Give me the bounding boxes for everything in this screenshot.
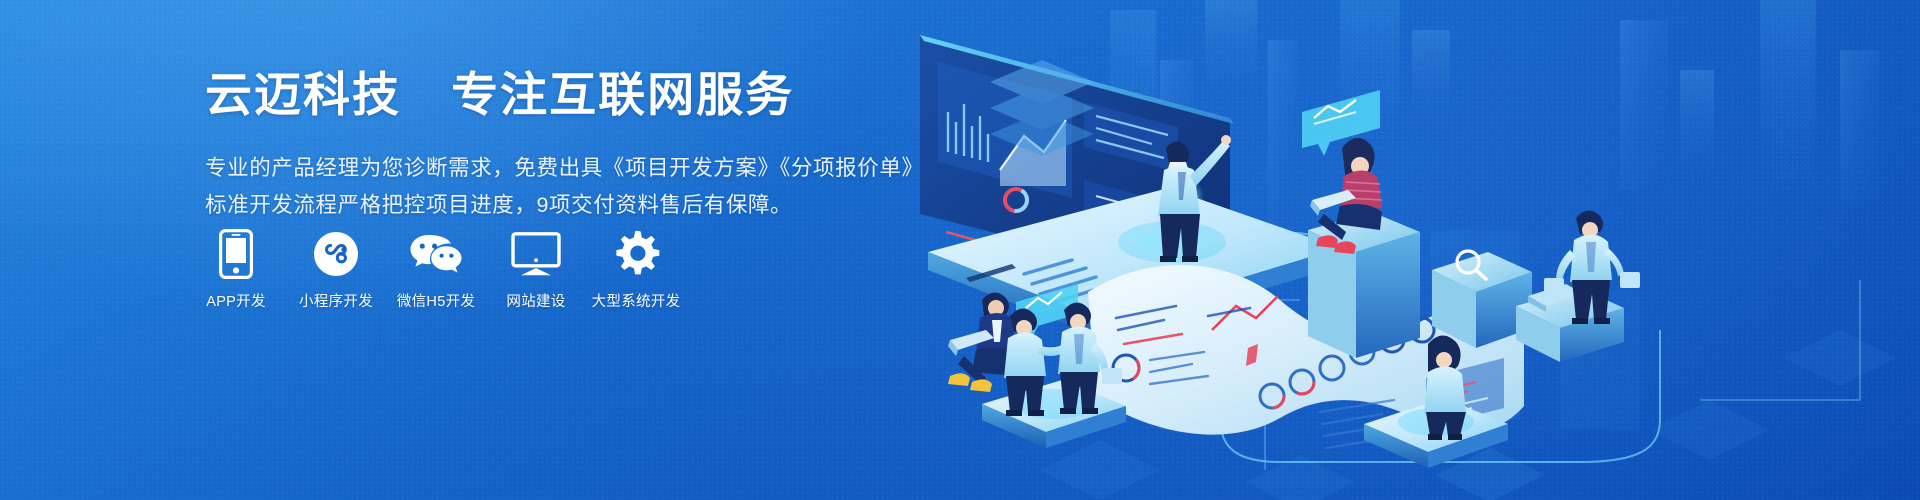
headline-brand: 云迈科技 (205, 68, 401, 121)
service-item-app[interactable]: APP开发 (198, 228, 274, 310)
service-label: 大型系统开发 (592, 295, 681, 310)
service-item-mini-program[interactable]: 小程序开发 (298, 228, 374, 310)
large-tablet-platform (928, 188, 1340, 338)
two-people-conversation (982, 284, 1126, 448)
page-title: 云迈科技 专注互联网服务 (205, 68, 905, 122)
search-magnifier-cube (1432, 251, 1532, 348)
isometric-tech-teamwork-illustration (920, 0, 1920, 500)
service-label: APP开发 (206, 295, 266, 310)
hero-banner: 云迈科技 专注互联网服务 专业的产品经理为您诊断需求，免费出具《项目开发方案》《… (0, 0, 1920, 500)
chat-bubble-chart (1302, 90, 1380, 156)
woman-on-pedestal-with-laptop (1308, 138, 1420, 358)
service-label: 小程序开发 (299, 295, 373, 310)
headline-tagline: 专注互联网服务 (451, 68, 794, 121)
hero-subtitle: 专业的产品经理为您诊断需求，免费出具《项目开发方案》《分项报价单》 标准开发流程… (205, 150, 905, 224)
service-label: 微信H5开发 (397, 295, 475, 310)
flowing-data-sheet (1088, 265, 1524, 448)
gear-icon (612, 228, 660, 280)
wechat-icon (409, 228, 463, 280)
seated-person-with-laptop (948, 292, 1020, 392)
walking-person-with-briefcase (1516, 210, 1640, 362)
desktop-monitor-icon (511, 228, 561, 280)
service-label: 网站建设 (506, 295, 565, 310)
subtitle-line-1: 专业的产品经理为您诊断需求，免费出具《项目开发方案》《分项报价单》 (205, 150, 905, 187)
server-stack (990, 60, 1094, 156)
service-item-large-system[interactable]: 大型系统开发 (598, 228, 674, 310)
mini-program-icon (313, 228, 359, 280)
dashboard-screen (920, 35, 1234, 292)
woman-on-tablet-platform (1364, 335, 1508, 468)
standing-person-pointing (1158, 135, 1231, 262)
mobile-phone-icon (219, 228, 253, 280)
service-item-website[interactable]: 网站建设 (498, 228, 574, 310)
service-item-wechat-h5[interactable]: 微信H5开发 (398, 228, 474, 310)
hero-copy: 云迈科技 专注互联网服务 专业的产品经理为您诊断需求，免费出具《项目开发方案》《… (205, 68, 905, 224)
service-icon-row: APP开发 小程序开发 (198, 228, 674, 310)
subtitle-line-2: 标准开发流程严格把控项目进度，9项交付资料售后有保障。 (205, 187, 905, 224)
